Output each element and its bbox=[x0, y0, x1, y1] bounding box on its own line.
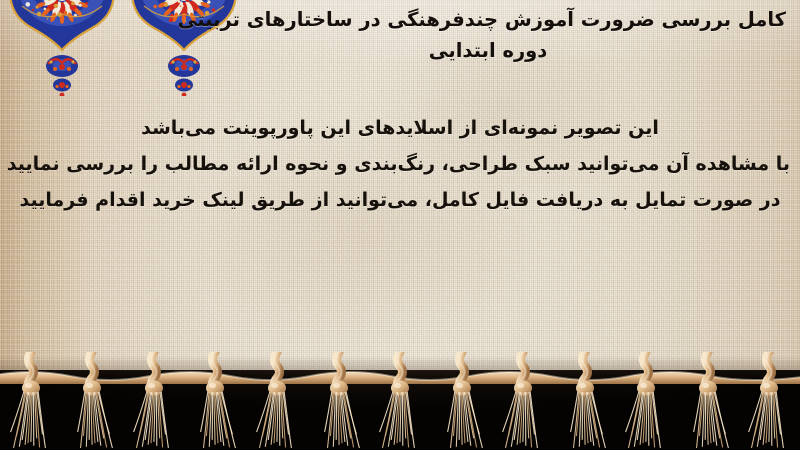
ornament-tip-dot bbox=[182, 93, 187, 96]
ornament-pendant-large bbox=[46, 55, 78, 77]
body-line-2: با مشاهده آن می‌توانید سبک طراحی، رنگ‌بن… bbox=[10, 146, 790, 182]
bottom-black-band bbox=[0, 370, 800, 450]
body-line-1: این تصویر نمونه‌ای از اسلایدهای این پاور… bbox=[10, 110, 790, 146]
ornament-pendant-small bbox=[175, 79, 193, 92]
ornament-tip-dot bbox=[60, 93, 65, 96]
body-line-3: در صورت تمایل به دریافت فایل کامل، می‌تو… bbox=[10, 182, 790, 218]
title-line-2: دوره ابتدایی bbox=[190, 35, 786, 66]
slide-body: این تصویر نمونه‌ای از اسلایدهای این پاور… bbox=[10, 110, 790, 218]
slide-title: کامل بررسی ضرورت آموزش چندفرهنگی در ساخت… bbox=[190, 4, 786, 66]
ornament-pendant-small bbox=[53, 79, 71, 92]
title-line-1: کامل بررسی ضرورت آموزش چندفرهنگی در ساخت… bbox=[190, 4, 786, 35]
slide-canvas: کامل بررسی ضرورت آموزش چندفرهنگی در ساخت… bbox=[0, 0, 800, 450]
illumination-icon bbox=[6, 0, 118, 96]
illumination-motif-1 bbox=[6, 0, 118, 96]
